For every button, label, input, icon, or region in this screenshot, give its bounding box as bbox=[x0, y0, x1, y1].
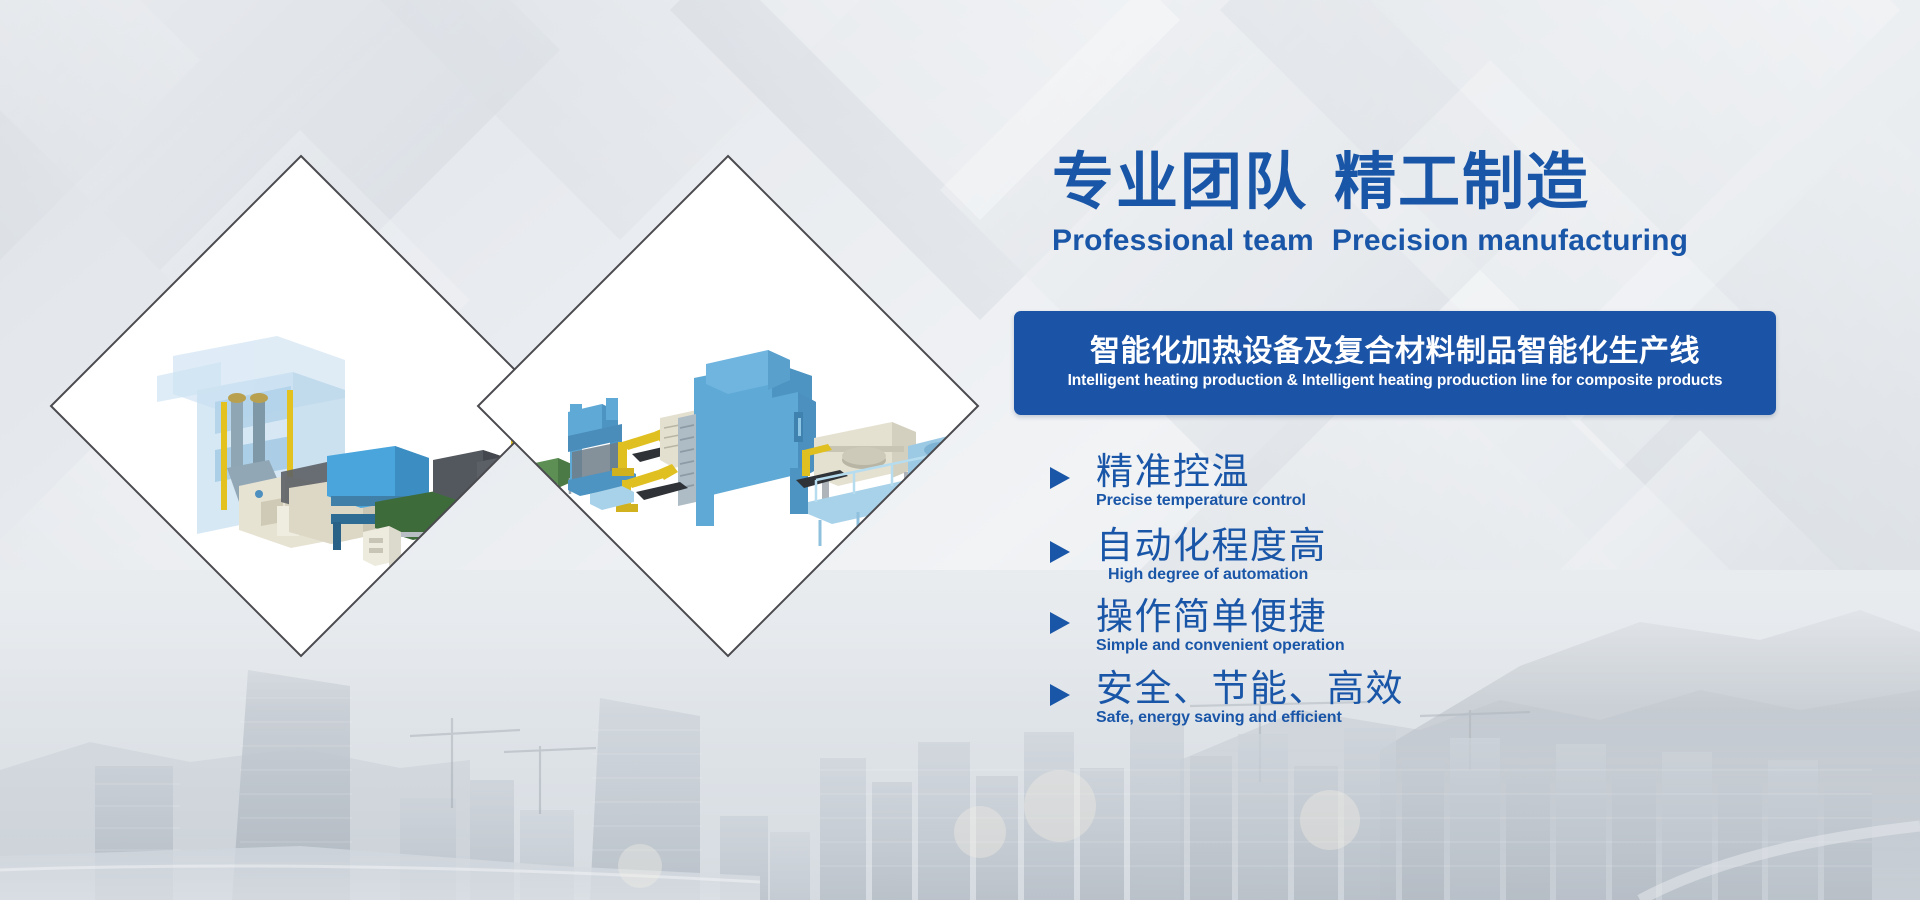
feature-chinese: 安全、节能、高效 bbox=[1096, 669, 1918, 709]
headline-block: 专业团队精工制造 Professional teamPrecision manu… bbox=[1052, 152, 1912, 258]
content-column: 专业团队精工制造 Professional teamPrecision manu… bbox=[1010, 0, 1920, 900]
feature-english: Simple and convenient operation bbox=[1096, 637, 1918, 655]
ribbon-english-subtitle: Intelligent heating production & Intelli… bbox=[1068, 372, 1723, 390]
feature-item: 安全、节能、高效 Safe, energy saving and efficie… bbox=[1038, 669, 1918, 727]
feature-chinese: 精准控温 bbox=[1096, 452, 1918, 492]
feature-english: Safe, energy saving and efficient bbox=[1096, 709, 1918, 727]
promo-banner: 专业团队精工制造 Professional teamPrecision manu… bbox=[0, 0, 1920, 900]
headline-chinese: 专业团队精工制造 bbox=[1052, 152, 1912, 214]
triangle-right-icon bbox=[1050, 467, 1070, 489]
headline-en-left: Professional team bbox=[1052, 224, 1314, 257]
headline-en-right: Precision manufacturing bbox=[1332, 224, 1688, 257]
triangle-right-icon bbox=[1050, 541, 1070, 563]
triangle-right-icon bbox=[1050, 612, 1070, 634]
feature-chinese: 操作简单便捷 bbox=[1096, 597, 1918, 637]
triangle-right-icon bbox=[1050, 684, 1070, 706]
feature-item: 自动化程度高 High degree of automation bbox=[1038, 526, 1918, 584]
feature-item: 操作简单便捷 Simple and convenient operation bbox=[1038, 597, 1918, 655]
feature-english: High degree of automation bbox=[1108, 566, 1918, 584]
diamond-photo-production-line-2 bbox=[472, 150, 984, 662]
diamond-2-svg bbox=[472, 150, 984, 662]
feature-english: Precise temperature control bbox=[1096, 492, 1918, 510]
product-name-ribbon: 智能化加热设备及复合材料制品智能化生产线 Intelligent heating… bbox=[1014, 311, 1776, 415]
headline-cn-left: 专业团队 bbox=[1052, 148, 1308, 217]
ribbon-chinese-title: 智能化加热设备及复合材料制品智能化生产线 bbox=[1090, 336, 1700, 368]
headline-cn-right: 精工制造 bbox=[1334, 148, 1590, 217]
feature-chinese: 自动化程度高 bbox=[1096, 526, 1918, 566]
headline-english: Professional teamPrecision manufacturing bbox=[1052, 224, 1912, 258]
feature-list: 精准控温 Precise temperature control 自动化程度高 … bbox=[1038, 452, 1918, 746]
feature-item: 精准控温 Precise temperature control bbox=[1038, 452, 1918, 510]
